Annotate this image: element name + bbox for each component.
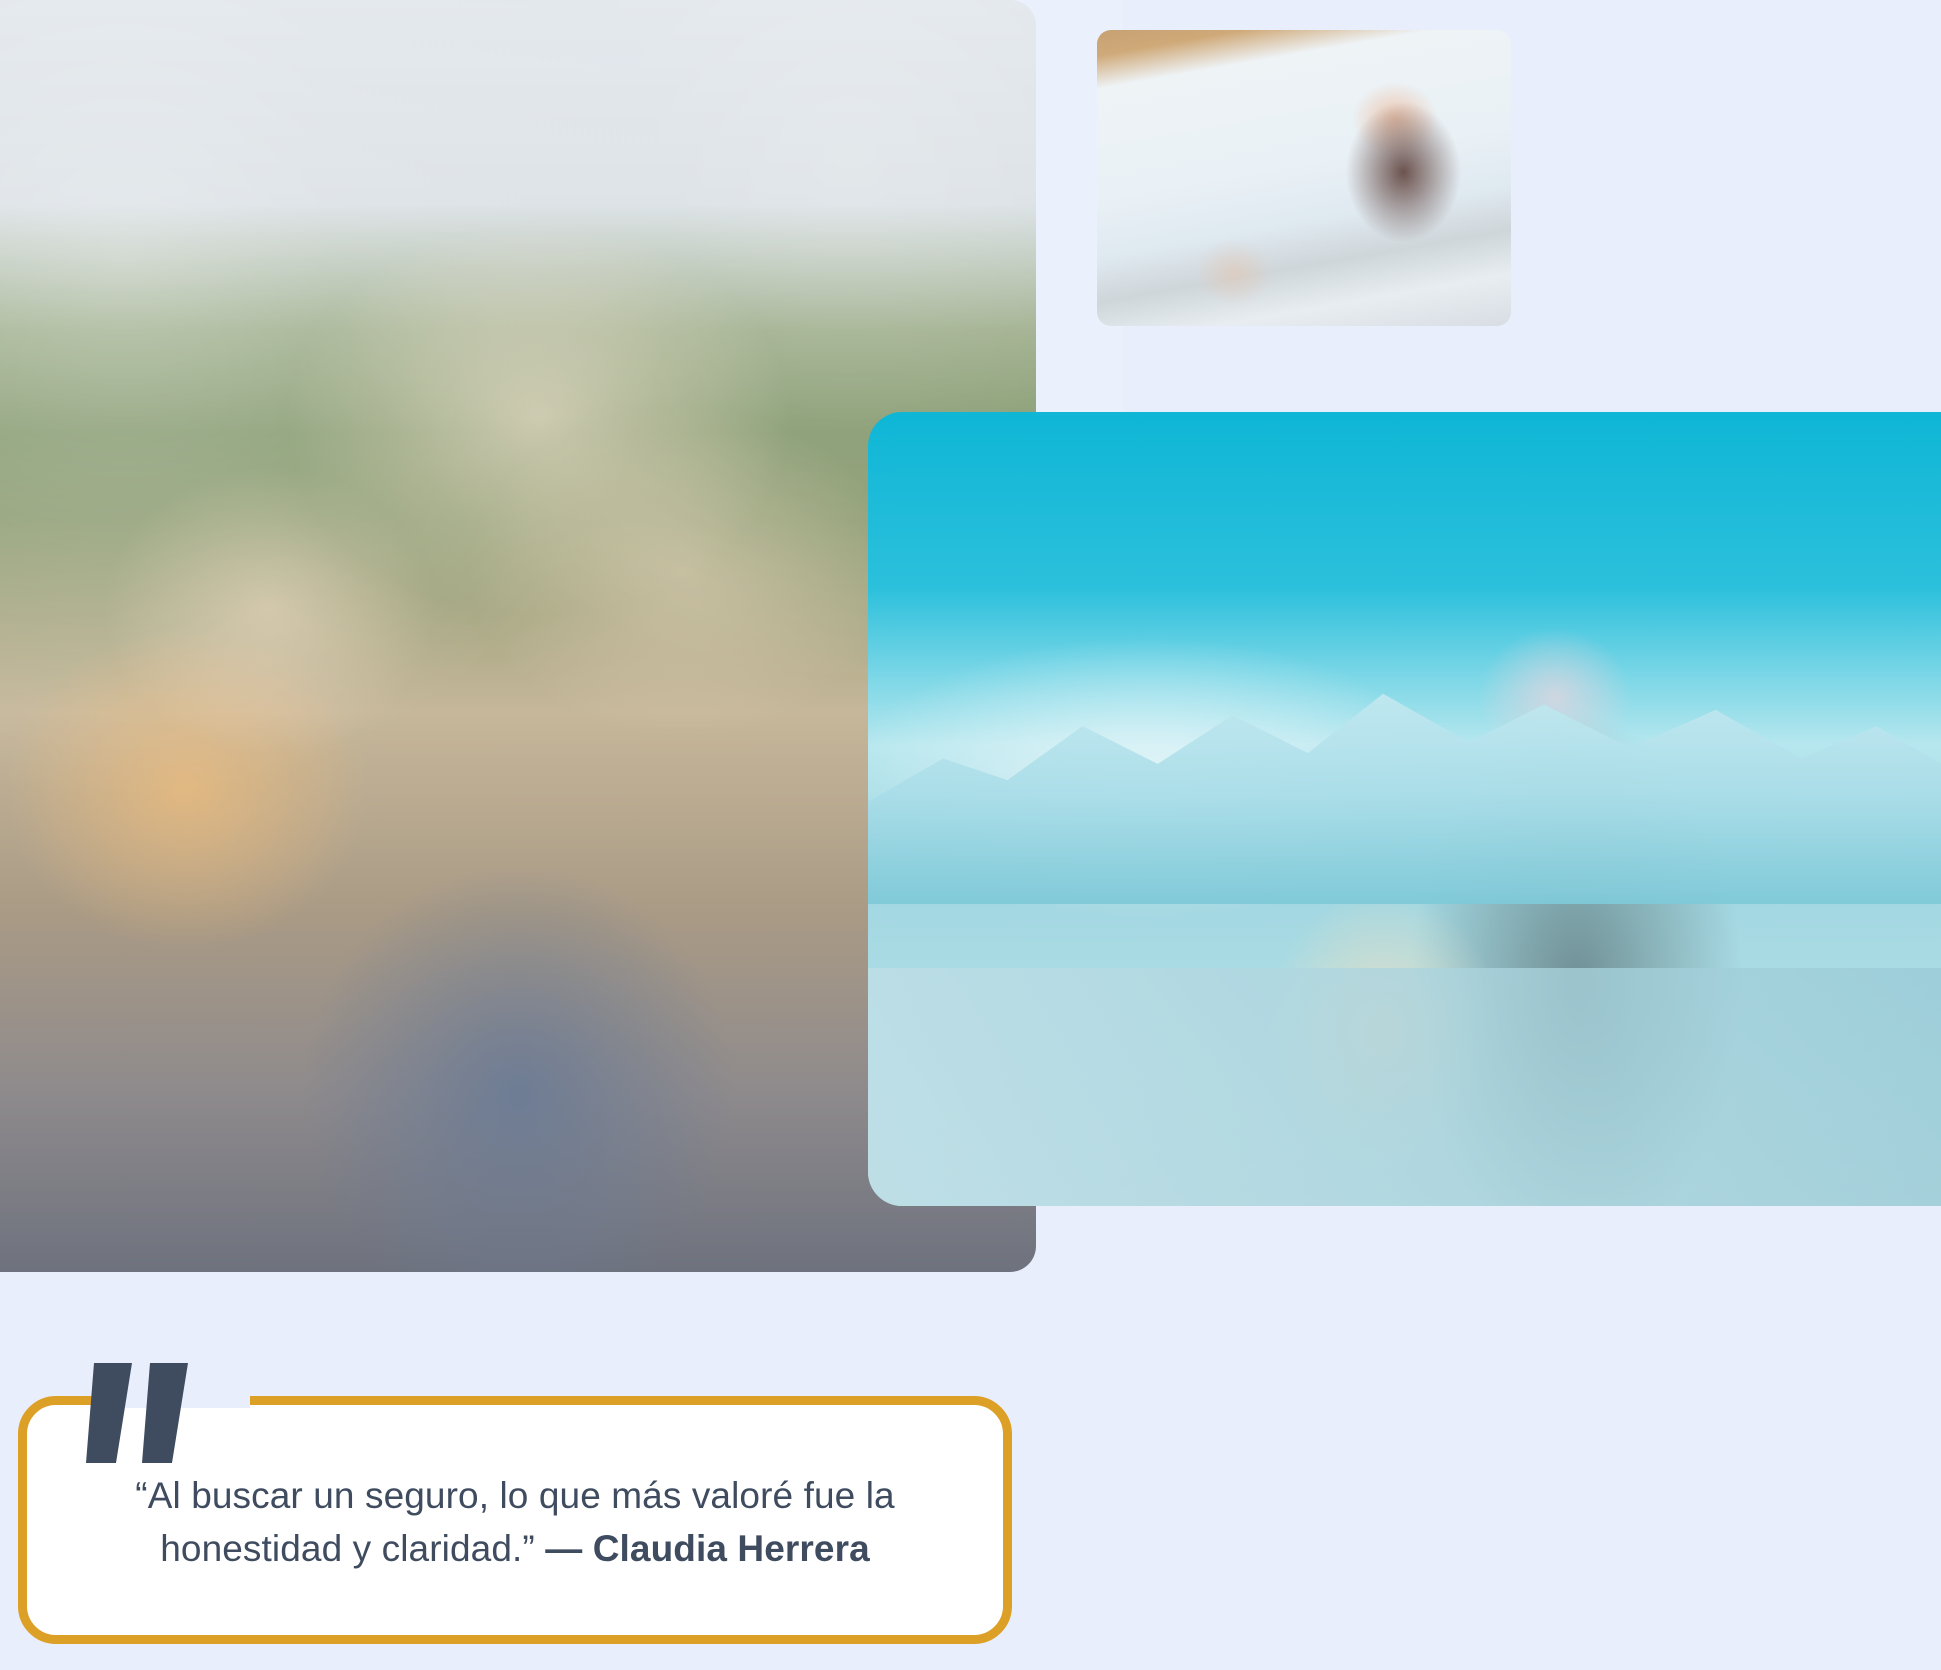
testimonial-line-2: honestidad y claridad.” xyxy=(160,1528,535,1569)
mountain-ridge-shape xyxy=(868,634,1941,904)
viewing-deck-shape xyxy=(868,968,1941,1206)
testimonial-dash: — xyxy=(545,1528,582,1569)
office-phone-photo[interactable] xyxy=(1097,30,1511,326)
testimonial-line-1: “Al buscar un seguro, lo que más valoré … xyxy=(135,1475,894,1516)
testimonial-author: Claudia Herrera xyxy=(593,1528,870,1569)
quote-mark-icon xyxy=(86,1363,206,1478)
mountain-ski-photo[interactable] xyxy=(868,412,1941,1206)
collage-stage: “Al buscar un seguro, lo que más valoré … xyxy=(0,0,1941,1670)
testimonial-text: “Al buscar un seguro, lo que más valoré … xyxy=(18,1470,1012,1575)
